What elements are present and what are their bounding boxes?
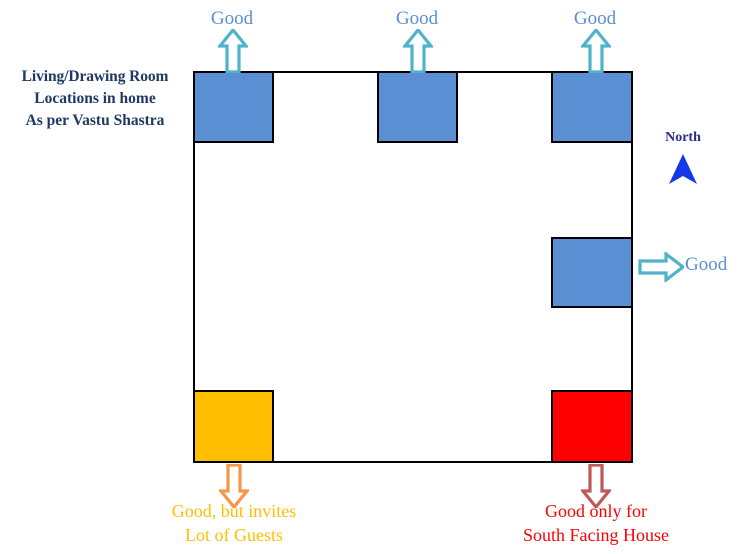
south-west-caption: Good, but invites Lot of Guests [124, 500, 344, 548]
south-east-caption: Good only for South Facing House [486, 500, 706, 548]
title-line-1: Living/Drawing Room [0, 66, 190, 88]
north-room[interactable] [377, 71, 458, 143]
good-label-north: Good [381, 8, 453, 30]
south-east-caption-line-2: South Facing House [486, 524, 706, 548]
vastu-diagram-canvas: Living/Drawing Room Locations in home As… [0, 0, 737, 554]
up-arrow-icon-north-west [218, 29, 248, 73]
east-room[interactable] [551, 237, 633, 308]
good-label-north-east: Good [559, 8, 631, 30]
diagram-title: Living/Drawing Room Locations in home As… [0, 66, 190, 132]
title-line-2: Locations in home [0, 88, 190, 110]
south-east-caption-line-1: Good only for [486, 500, 706, 524]
north-east-room[interactable] [551, 71, 633, 143]
right-arrow-icon-east [638, 252, 684, 282]
good-label-east: Good [685, 254, 737, 276]
north-label: North [652, 130, 714, 146]
north-arrow-icon [666, 152, 700, 186]
up-arrow-icon-north [403, 29, 433, 73]
south-east-room[interactable] [551, 390, 633, 463]
south-west-caption-line-2: Lot of Guests [124, 524, 344, 548]
good-label-north-west: Good [196, 8, 268, 30]
up-arrow-icon-north-east [581, 29, 611, 73]
south-west-room[interactable] [193, 390, 274, 463]
south-west-caption-line-1: Good, but invites [124, 500, 344, 524]
title-line-3: As per Vastu Shastra [0, 110, 190, 132]
north-west-room[interactable] [193, 71, 274, 143]
